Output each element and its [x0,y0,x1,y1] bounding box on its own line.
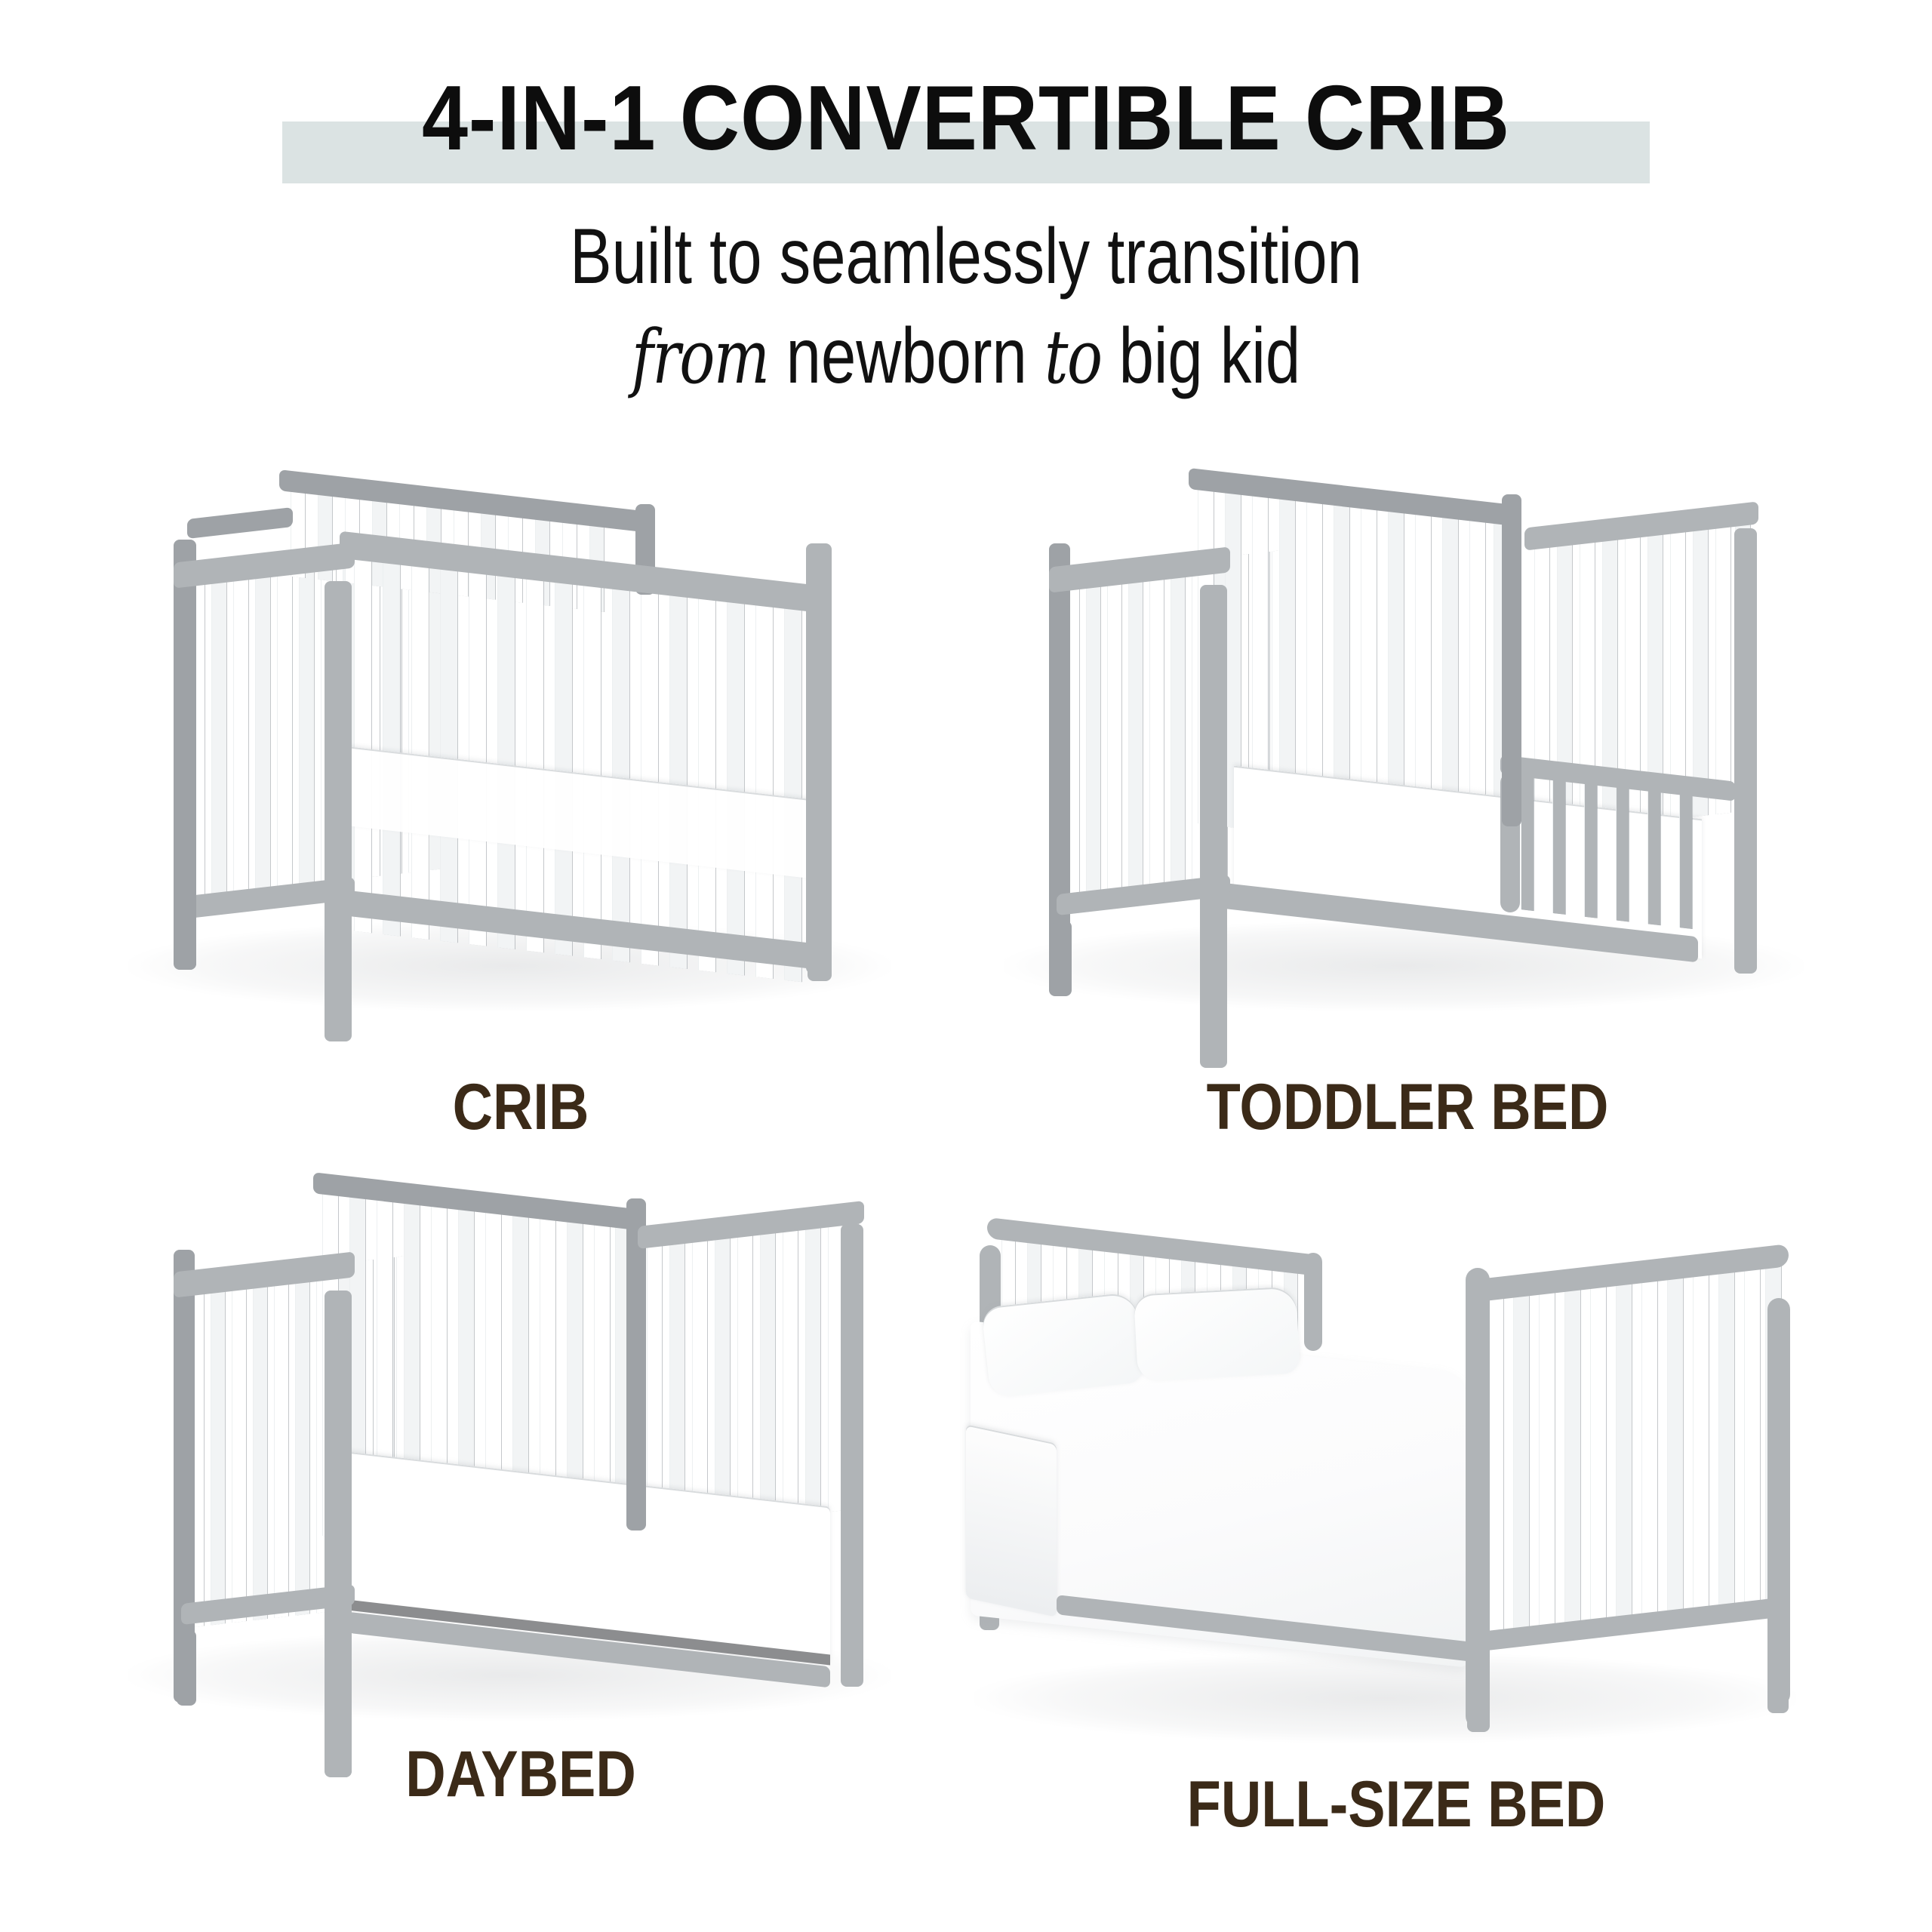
infographic-page: 4-IN-1 CONVERTIBLE CRIB Built to seamles… [0,0,1932,1932]
headboard-right-post [1304,1253,1322,1351]
bed-duvet-side-drape [966,1424,1057,1617]
toddler-bed-illustration [974,468,1841,1041]
toddler-post-rear-right [1502,494,1521,826]
toddler-leg-front-right [1734,875,1757,974]
subtitle-line-2: from newborn to big kid [193,317,1739,395]
headline-wrap: 4-IN-1 CONVERTIBLE CRIB [0,0,1932,189]
page-title: 4-IN-1 CONVERTIBLE CRIB [97,72,1835,164]
config-full-size-bed: FULL-SIZE BED [943,1207,1849,1841]
config-daybed: DAYBED [98,1177,943,1841]
subtitle-script-from: from [632,315,769,401]
caption-daybed: DAYBED [157,1737,884,1812]
floor-shadow [974,1653,1796,1743]
subtitle-script-to: to [1044,315,1102,401]
toddler-leg-front-left [1201,921,1227,1064]
subtitle-word-newborn: newborn [786,312,1027,400]
pillow-right [1134,1286,1300,1381]
crib-illustration [98,468,943,1041]
footboard-leg-front [1467,1653,1490,1732]
subtitle-word-bigkid: big kid [1119,312,1301,400]
caption-full-size-bed: FULL-SIZE BED [1007,1767,1786,1842]
crib-leg-rear-left [177,891,196,970]
daybed-leg-front-right [841,1600,863,1687]
daybed-end-panel-slats [643,1206,862,1533]
crib-leg-front-left [326,921,352,1038]
crib-leg-front-right [808,891,832,981]
footboard-slats [1481,1262,1783,1651]
footboard-leg-back [1767,1630,1789,1713]
daybed-illustration [98,1177,943,1751]
caption-crib: CRIB [157,1070,884,1145]
subtitle-line-1: Built to seamlessly transition [193,217,1739,296]
config-toddler-bed: TODDLER BED [974,468,1841,1132]
pillow-left [981,1292,1144,1398]
toddler-leg-rear-left [1052,921,1072,996]
crib-rail-top-back-side [187,507,293,539]
daybed-leg-rear-left [177,1630,196,1706]
config-crib: CRIB [98,468,943,1132]
caption-toddler-bed: TODDLER BED [1035,1070,1781,1145]
full-size-bed-illustration [943,1207,1849,1781]
header: 4-IN-1 CONVERTIBLE CRIB Built to seamles… [0,0,1932,189]
